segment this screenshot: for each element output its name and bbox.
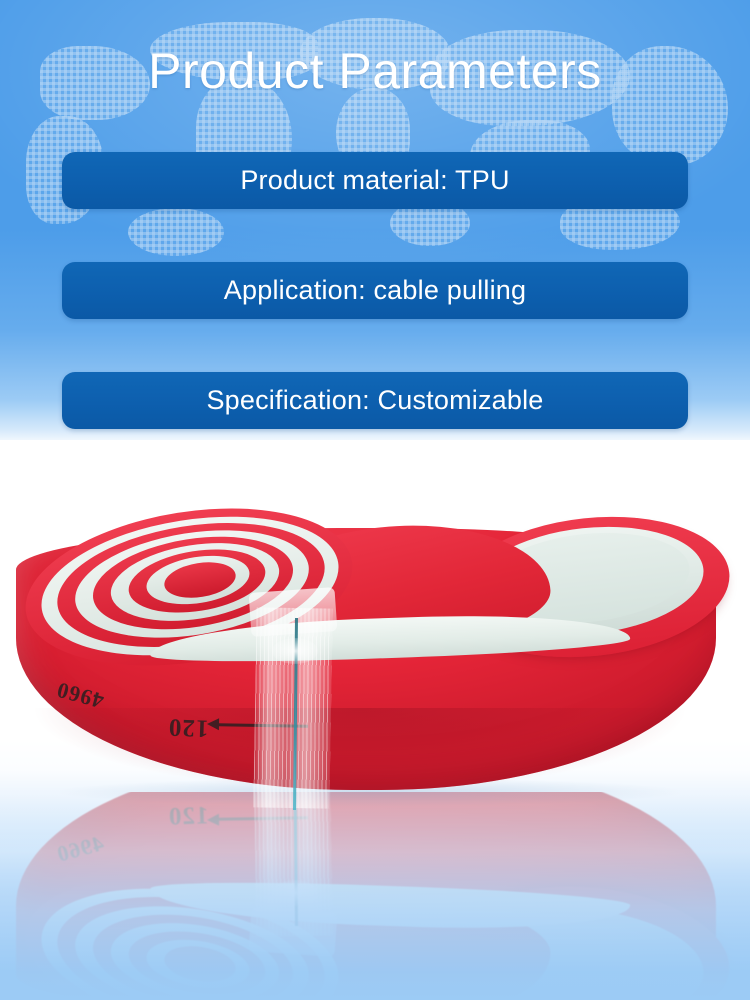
parameter-bar-material: Product material: TPU [62,152,688,209]
parameter-bar-specification-label: Specification: Customizable [206,372,543,429]
product-parameters-page: Product Parameters Product material: TPU… [0,0,750,1000]
belt-marking-width-code: 120 [168,712,209,741]
parameter-bar-list: Product material: TPU Application: cable… [62,152,688,482]
parameter-bar-application-label: Application: cable pulling [224,262,526,319]
tpu-belt: 4960 120 [0,440,750,800]
parameter-bar-specification: Specification: Customizable [62,372,688,429]
plastic-wrap-knot [272,638,318,664]
plastic-wrap-top-band [249,587,338,637]
parameter-bar-material-label: Product material: TPU [240,152,509,209]
parameter-bar-application: Application: cable pulling [62,262,688,319]
page-title: Product Parameters [0,40,750,102]
belt-reflection-image: 4960 120 [0,792,750,1000]
product-photo: 4960 120 [0,440,750,1000]
belt-reflection: 4960 120 [0,792,750,1000]
